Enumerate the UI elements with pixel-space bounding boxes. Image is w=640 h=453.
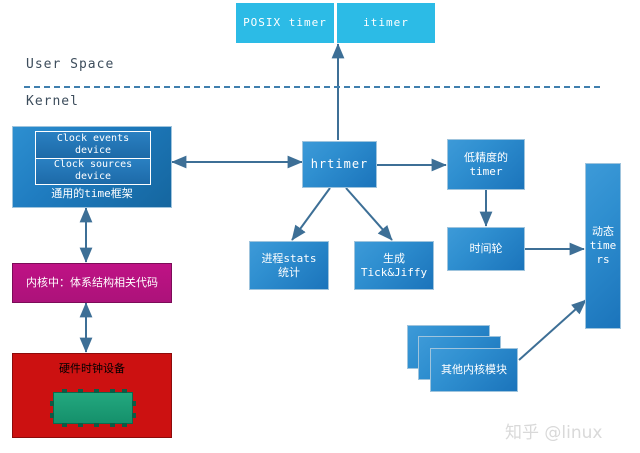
node-other-kernel-modules-label: 其他内核模块 <box>441 363 507 377</box>
node-hardware-clock[interactable]: 硬件时钟设备 <box>12 353 172 438</box>
arrow-modules-dynamic <box>519 300 586 360</box>
arrow-hrtimer-tick <box>346 188 392 240</box>
node-arch-code[interactable]: 内核中：体系结构相关代码 <box>12 263 172 303</box>
node-posix-timer-label: POSIX timer <box>243 16 327 30</box>
watermark: 知乎 @linux <box>505 418 602 443</box>
framework-inner-group: Clock events device Clock sources device <box>35 131 151 185</box>
userspace-kernel-separator <box>24 86 600 88</box>
arrow-hrtimer-stats <box>292 188 330 240</box>
node-clock-events-device-label: Clock events device <box>57 133 129 157</box>
node-itimer[interactable]: itimer <box>337 3 435 43</box>
node-process-stats-label: 进程stats 统计 <box>261 252 316 280</box>
node-low-precision-timer-label: 低精度的 timer <box>464 151 508 179</box>
node-low-precision-timer[interactable]: 低精度的 timer <box>447 139 525 190</box>
diagram-canvas: time framework --> up to POSIX timer str… <box>0 0 640 453</box>
node-time-framework-caption: 通用的time框架 <box>13 187 171 201</box>
node-tick-jiffy[interactable]: 生成 Tick&Jiffy <box>354 241 434 290</box>
node-process-stats[interactable]: 进程stats 统计 <box>249 241 329 290</box>
node-hrtimer-label: hrtimer <box>311 157 369 172</box>
node-time-framework[interactable]: Clock events device Clock sources device… <box>12 126 172 208</box>
node-clock-sources-device-label: Clock sources device <box>54 159 132 183</box>
node-arch-code-label: 内核中：体系结构相关代码 <box>26 276 158 290</box>
label-kernel: Kernel <box>26 94 79 109</box>
node-hardware-clock-label: 硬件时钟设备 <box>59 362 125 376</box>
node-other-kernel-modules[interactable]: 其他内核模块 <box>430 348 518 392</box>
node-hrtimer[interactable]: hrtimer <box>302 141 377 188</box>
node-dynamic-timers[interactable]: 动态 time rs <box>585 163 621 329</box>
chip-icon <box>53 392 133 424</box>
label-user-space: User Space <box>26 57 114 72</box>
node-time-wheel[interactable]: 时间轮 <box>447 227 525 271</box>
node-tick-jiffy-label: 生成 Tick&Jiffy <box>361 252 427 280</box>
node-time-wheel-label: 时间轮 <box>470 242 503 256</box>
node-posix-timer[interactable]: POSIX timer <box>236 3 334 43</box>
node-dynamic-timers-label: 动态 time rs <box>590 225 617 266</box>
node-itimer-label: itimer <box>363 16 409 30</box>
node-clock-sources-device[interactable]: Clock sources device <box>36 158 150 185</box>
node-clock-events-device[interactable]: Clock events device <box>36 132 150 158</box>
